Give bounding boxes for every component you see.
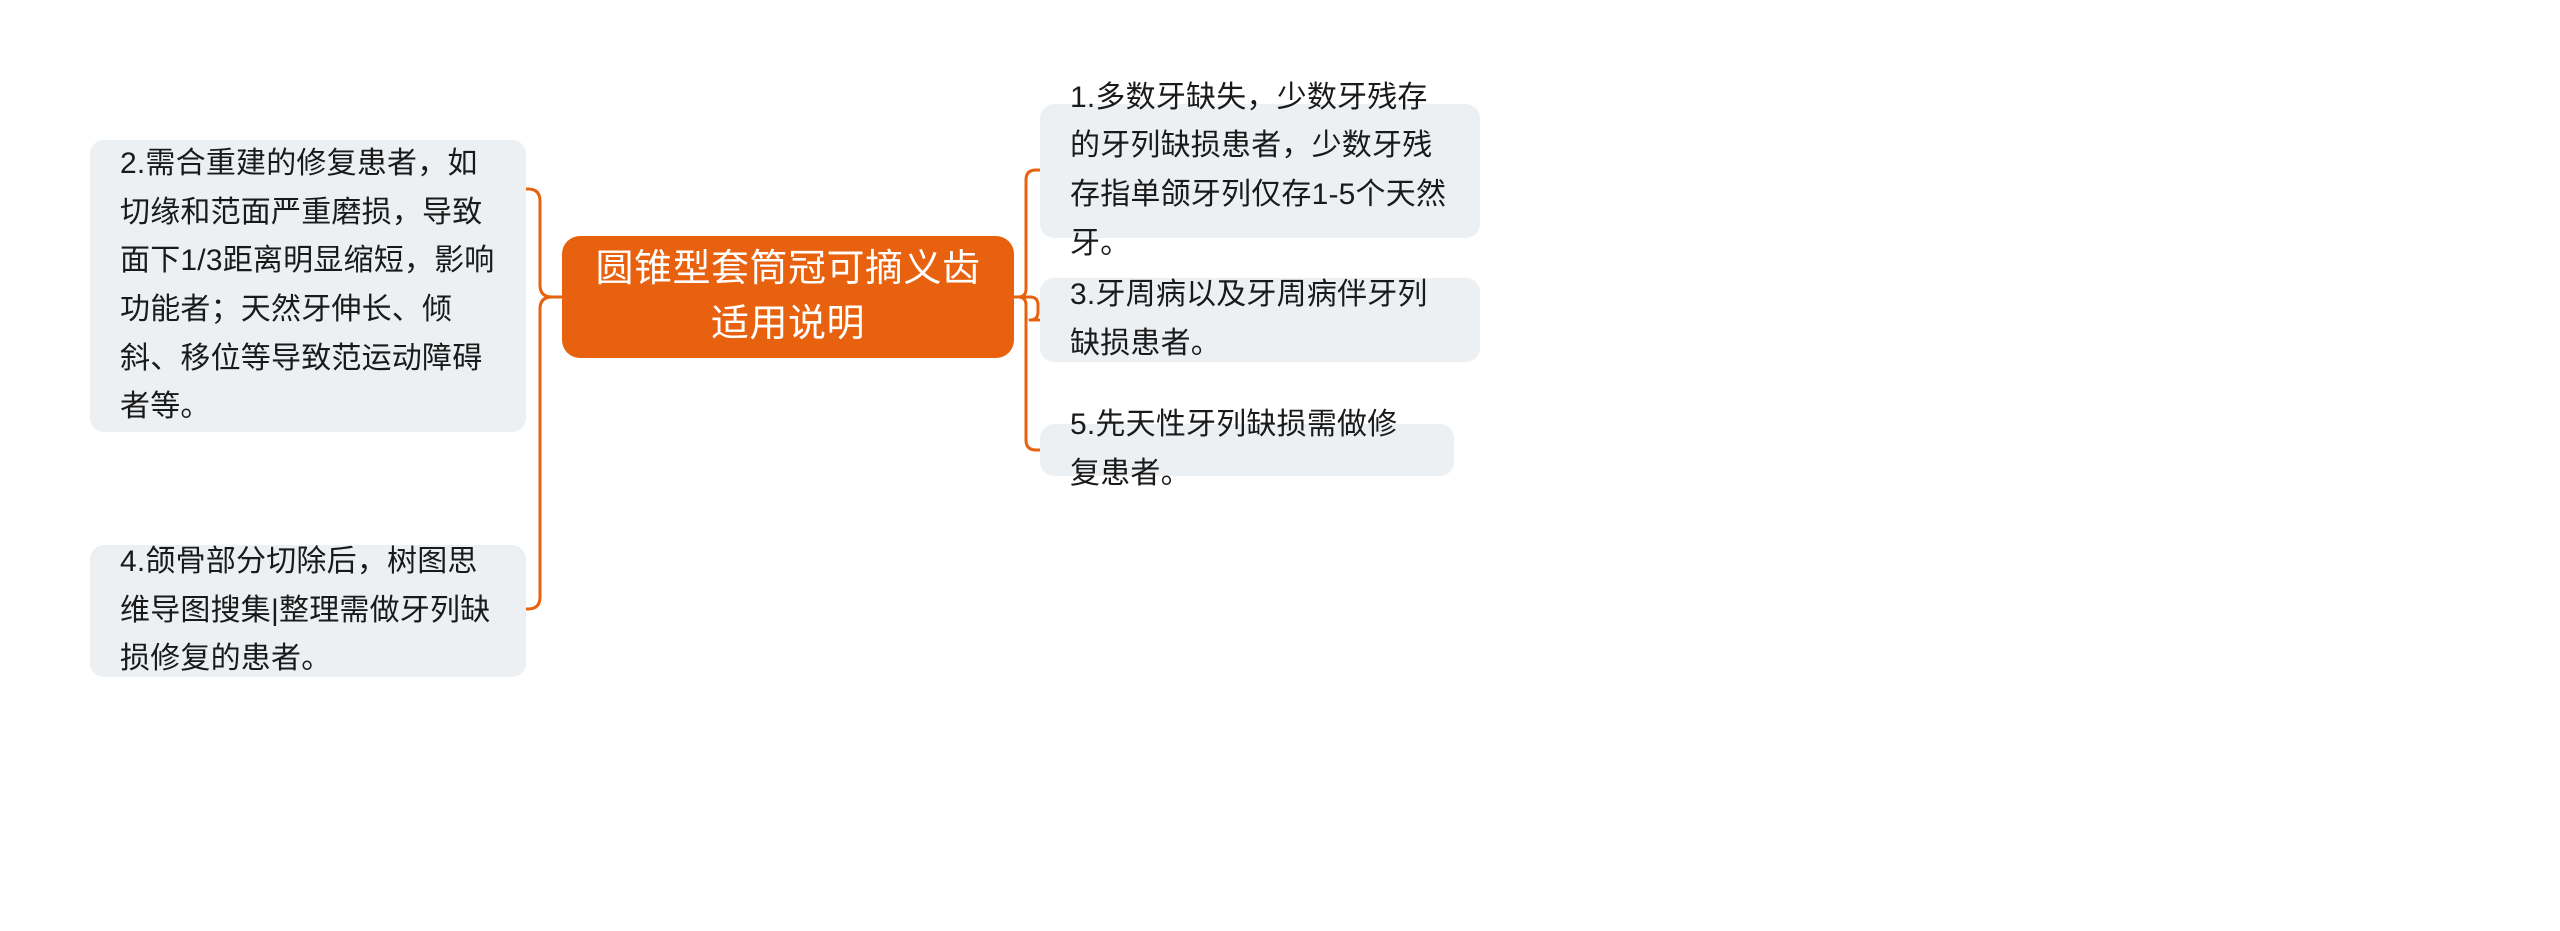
branch-node-1[interactable]: 1.多数牙缺失，少数牙残存的牙列缺损患者，少数牙残存指单颌牙列仅存1-5个天然牙… xyxy=(1040,104,1480,238)
branch-node-2-label: 2.需合重建的修复患者，如切缘和范面严重磨损，导致面下1/3距离明显缩短，影响功… xyxy=(120,140,496,432)
branch-node-2[interactable]: 2.需合重建的修复患者，如切缘和范面严重磨损，导致面下1/3距离明显缩短，影响功… xyxy=(90,140,526,432)
branch-node-5[interactable]: 5.先天性牙列缺损需做修复患者。 xyxy=(1040,424,1454,476)
branch-node-1-label: 1.多数牙缺失，少数牙残存的牙列缺损患者，少数牙残存指单颌牙列仅存1-5个天然牙… xyxy=(1070,74,1450,268)
mindmap-canvas: 圆锥型套筒冠可摘义齿适用说明 2.需合重建的修复患者，如切缘和范面严重磨损，导致… xyxy=(0,0,2560,931)
connector-root-to-right-3 xyxy=(1014,297,1040,320)
branch-node-4[interactable]: 4.颌骨部分切除后，树图思维导图搜集|整理需做牙列缺损修复的患者。 xyxy=(90,545,526,677)
branch-node-3-label: 3.牙周病以及牙周病伴牙列缺损患者。 xyxy=(1070,271,1450,368)
root-node[interactable]: 圆锥型套筒冠可摘义齿适用说明 xyxy=(562,236,1014,358)
root-node-label: 圆锥型套筒冠可摘义齿适用说明 xyxy=(588,242,988,352)
connector-root-to-left-4 xyxy=(526,297,562,609)
connector-root-to-left-2 xyxy=(526,189,562,297)
connector-root-to-right-1 xyxy=(1014,170,1040,297)
branch-node-5-label: 5.先天性牙列缺损需做修复患者。 xyxy=(1070,401,1424,498)
connector-root-to-right-5 xyxy=(1014,297,1040,450)
branch-node-4-label: 4.颌骨部分切除后，树图思维导图搜集|整理需做牙列缺损修复的患者。 xyxy=(120,538,496,684)
branch-node-3[interactable]: 3.牙周病以及牙周病伴牙列缺损患者。 xyxy=(1040,278,1480,362)
